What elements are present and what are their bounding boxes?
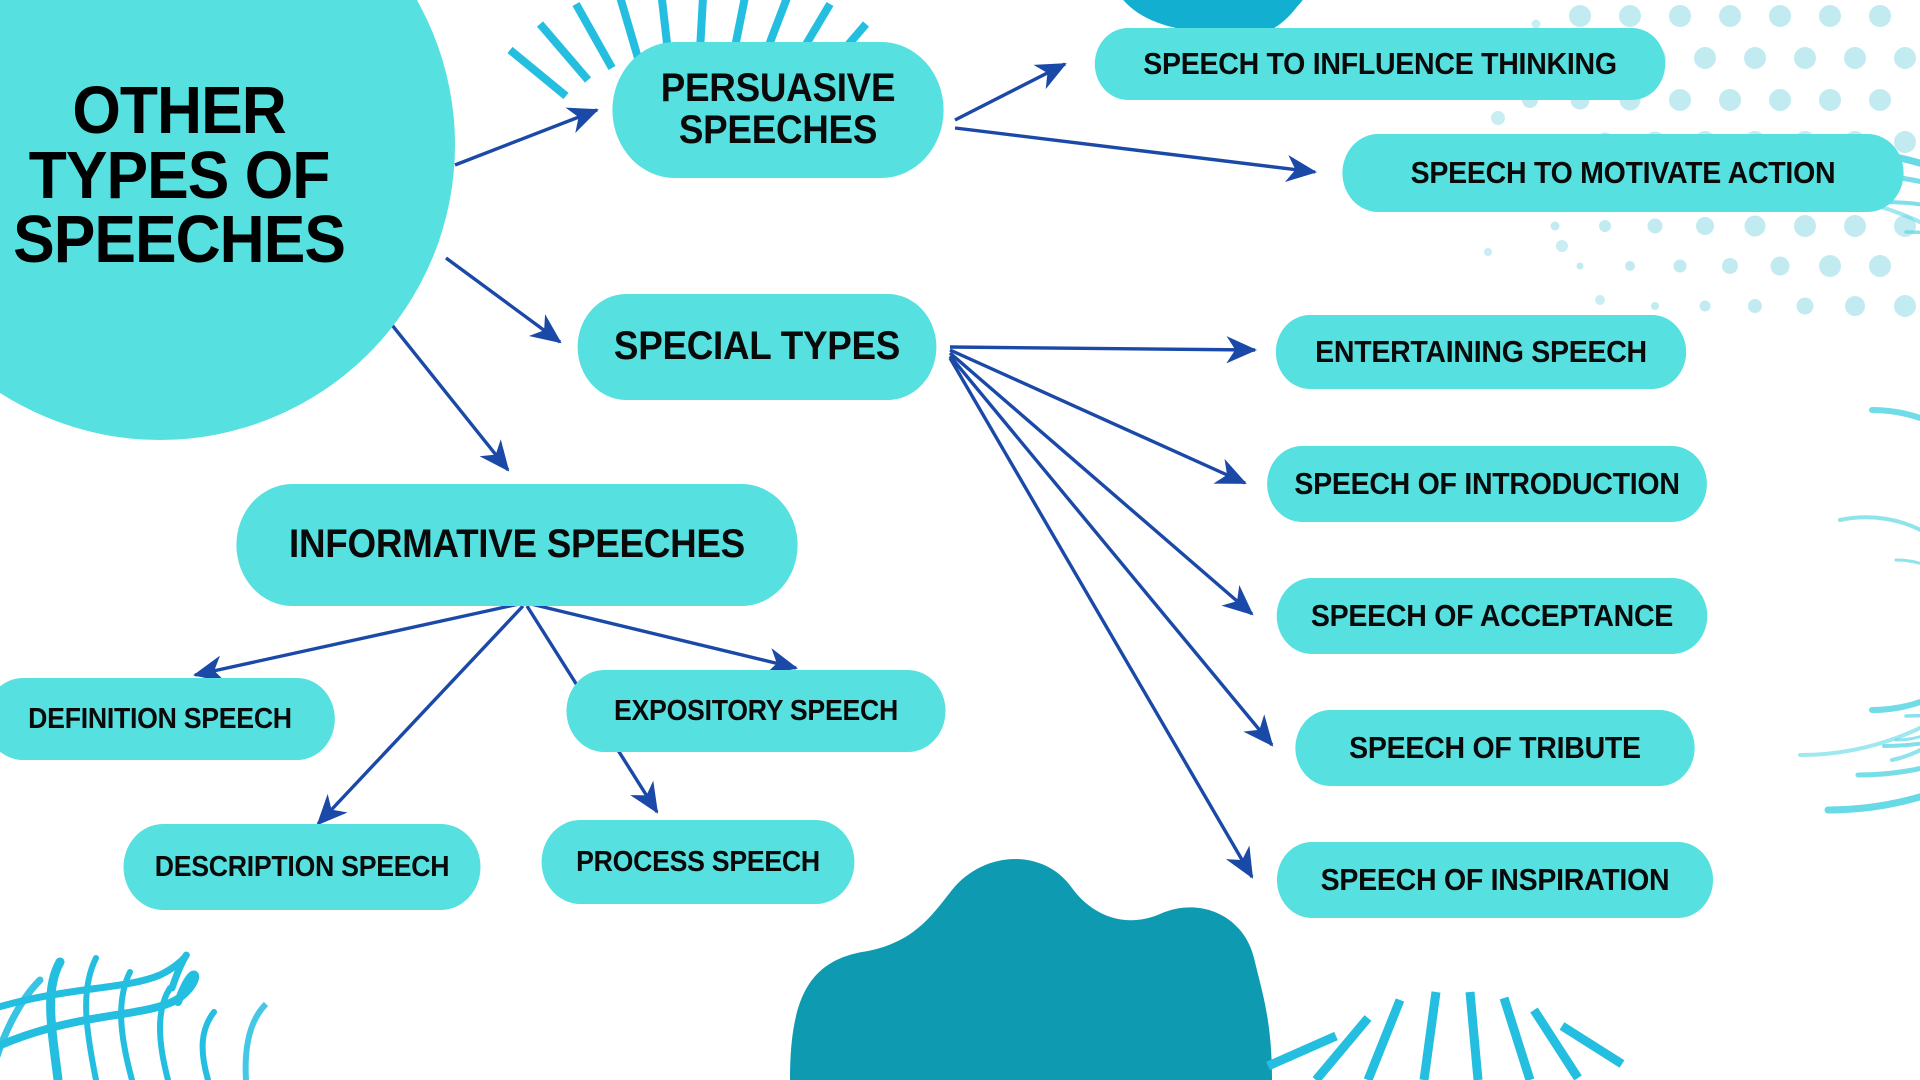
node-informative-speeches[interactable]: INFORMATIVE SPEECHES [236, 484, 797, 606]
node-process-label: PROCESS SPEECH [576, 847, 820, 877]
accent-curve-icon [246, 1004, 266, 1080]
node-motivate-label: SPEECH TO MOTIVATE ACTION [1411, 157, 1836, 189]
mindmap-canvas: OTHER TYPES OF SPEECHES PERSUASIVE SPEEC… [0, 0, 1920, 1080]
node-description-label: DESCRIPTION SPEECH [155, 852, 450, 882]
node-persuasive-speeches[interactable]: PERSUASIVE SPEECHES [612, 42, 943, 178]
node-acceptance-label: SPEECH OF ACCEPTANCE [1311, 600, 1673, 632]
concentric-arc-lines-icon [1800, 150, 1920, 810]
node-speech-to-influence-thinking[interactable]: SPEECH TO INFLUENCE THINKING [1095, 28, 1665, 100]
node-speech-of-introduction[interactable]: SPEECH OF INTRODUCTION [1267, 446, 1707, 522]
node-persuasive-line-2: SPEECHES [679, 110, 877, 152]
node-definition-label: DEFINITION SPEECH [28, 704, 292, 734]
edge-special-introduction [950, 350, 1245, 483]
edge-special-inspiration [950, 358, 1252, 877]
node-special-types-label: SPECIAL TYPES [614, 326, 900, 368]
edge-root-special [446, 258, 560, 342]
edge-informative-expository [531, 604, 796, 668]
root-title-line-1: OTHER [13, 78, 345, 143]
curved-line-fan-icon [0, 955, 214, 1080]
node-expository-label: EXPOSITORY SPEECH [614, 696, 898, 726]
edge-persuasive-influence [955, 64, 1065, 120]
node-entertaining-label: ENTERTAINING SPEECH [1315, 336, 1647, 368]
edge-special-tribute [950, 356, 1272, 745]
edge-special-acceptance [950, 353, 1252, 614]
edge-persuasive-motivate [955, 128, 1315, 172]
node-influence-label: SPEECH TO INFLUENCE THINKING [1143, 48, 1616, 80]
node-tribute-label: SPEECH OF TRIBUTE [1349, 732, 1641, 764]
node-process-speech[interactable]: PROCESS SPEECH [542, 820, 855, 904]
edge-root-persuasive [455, 110, 597, 165]
node-speech-to-motivate-action[interactable]: SPEECH TO MOTIVATE ACTION [1342, 134, 1903, 212]
node-informative-label: INFORMATIVE SPEECHES [289, 524, 745, 566]
node-entertaining-speech[interactable]: ENTERTAINING SPEECH [1276, 315, 1686, 389]
root-node-circle[interactable]: OTHER TYPES OF SPEECHES [0, 0, 455, 440]
radiating-line-rays-icon [1268, 992, 1622, 1080]
root-node-title: OTHER TYPES OF SPEECHES [0, 18, 345, 273]
node-persuasive-line-1: PERSUASIVE [661, 68, 895, 110]
node-introduction-label: SPEECH OF INTRODUCTION [1294, 468, 1679, 500]
root-title-line-2: TYPES OF [13, 143, 345, 208]
edge-special-entertaining [950, 347, 1255, 350]
root-title-line-3: SPEECHES [13, 207, 345, 272]
edge-informative-definition [195, 604, 519, 675]
node-speech-of-inspiration[interactable]: SPEECH OF INSPIRATION [1277, 842, 1713, 918]
node-special-types[interactable]: SPECIAL TYPES [578, 294, 937, 400]
node-speech-of-acceptance[interactable]: SPEECH OF ACCEPTANCE [1277, 578, 1708, 654]
node-definition-speech[interactable]: DEFINITION SPEECH [0, 678, 335, 760]
node-inspiration-label: SPEECH OF INSPIRATION [1321, 864, 1670, 896]
node-description-speech[interactable]: DESCRIPTION SPEECH [124, 824, 481, 910]
teal-blob-bottom-icon [790, 859, 1272, 1080]
node-speech-of-tribute[interactable]: SPEECH OF TRIBUTE [1295, 710, 1694, 786]
edge-informative-description [318, 606, 523, 824]
node-expository-speech[interactable]: EXPOSITORY SPEECH [566, 670, 945, 752]
